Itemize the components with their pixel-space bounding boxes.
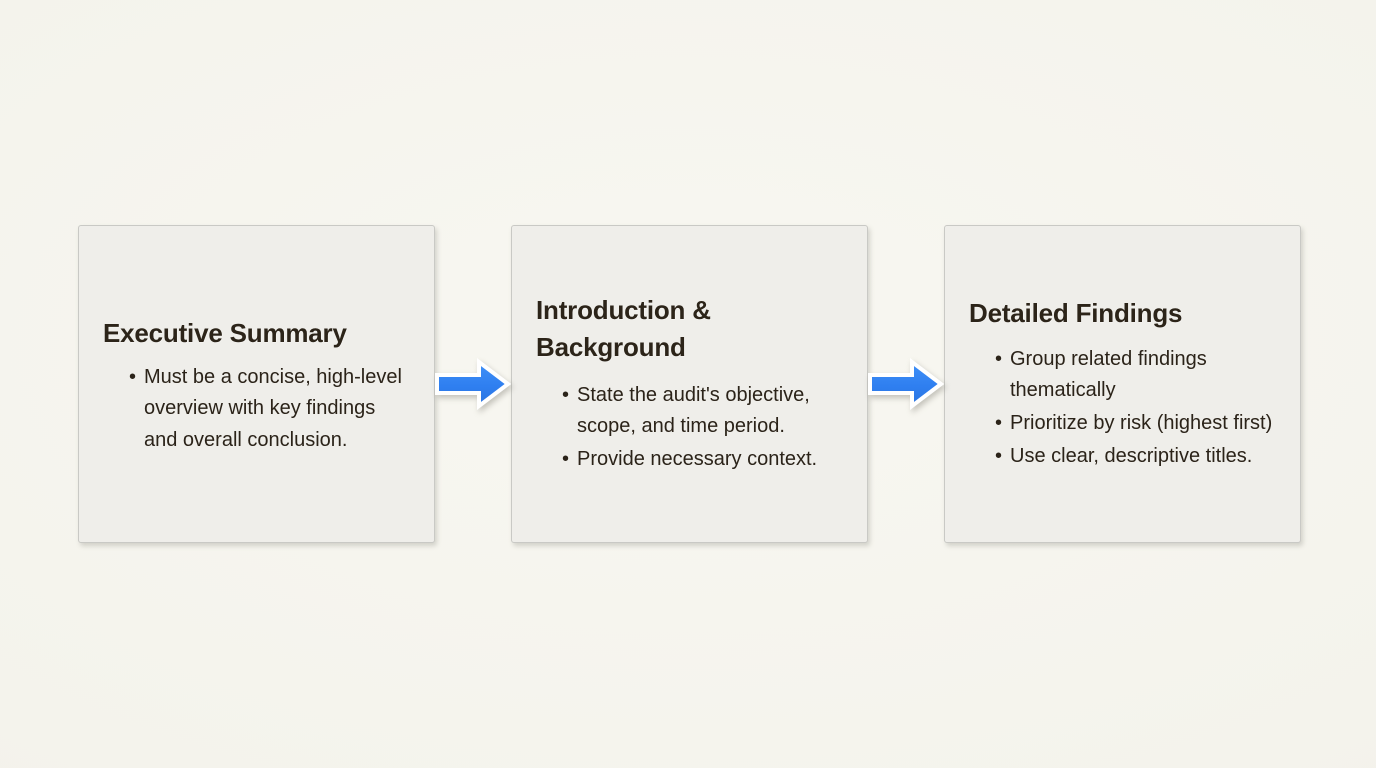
arrow-right-icon bbox=[868, 358, 944, 410]
list-item: • State the audit's objective, scope, an… bbox=[562, 380, 845, 443]
list-item-text: Group related findings thematically bbox=[1010, 348, 1207, 402]
bullet-icon: • bbox=[129, 362, 136, 394]
list-item-text: Must be a concise, high-level overview w… bbox=[144, 366, 402, 451]
flow-node-detailed-findings[interactable]: Detailed Findings • Group related findin… bbox=[944, 225, 1301, 543]
node-title: Detailed Findings bbox=[969, 295, 1278, 332]
bullet-icon: • bbox=[562, 380, 569, 412]
process-flow-diagram: Executive Summary • Must be a concise, h… bbox=[78, 225, 1297, 543]
bullet-icon: • bbox=[995, 441, 1002, 473]
node-bullet-list: • Must be a concise, high-level overview… bbox=[103, 362, 412, 458]
list-item-text: Provide necessary context. bbox=[577, 448, 817, 470]
list-item: • Group related findings thematically bbox=[995, 344, 1278, 407]
list-item: • Use clear, descriptive titles. bbox=[995, 441, 1278, 473]
list-item: • Must be a concise, high-level overview… bbox=[129, 362, 412, 457]
connector-executive-summary-to-introduction bbox=[435, 225, 511, 543]
arrow-right-icon bbox=[435, 358, 511, 410]
bullet-icon: • bbox=[995, 408, 1002, 440]
list-item-text: Prioritize by risk (highest first) bbox=[1010, 412, 1272, 434]
list-item: • Provide necessary context. bbox=[562, 444, 845, 476]
list-item: • Prioritize by risk (highest first) bbox=[995, 408, 1278, 440]
flow-node-executive-summary[interactable]: Executive Summary • Must be a concise, h… bbox=[78, 225, 435, 543]
connector-introduction-to-detailed-findings bbox=[868, 225, 944, 543]
node-bullet-list: • State the audit's objective, scope, an… bbox=[536, 380, 845, 477]
flow-node-introduction-background[interactable]: Introduction & Background • State the au… bbox=[511, 225, 868, 543]
bullet-icon: • bbox=[995, 344, 1002, 376]
bullet-icon: • bbox=[562, 444, 569, 476]
list-item-text: State the audit's objective, scope, and … bbox=[577, 384, 810, 438]
node-bullet-list: • Group related findings thematically • … bbox=[969, 344, 1278, 473]
node-title: Introduction & Background bbox=[536, 292, 845, 366]
node-title: Executive Summary bbox=[103, 315, 412, 352]
list-item-text: Use clear, descriptive titles. bbox=[1010, 445, 1252, 467]
